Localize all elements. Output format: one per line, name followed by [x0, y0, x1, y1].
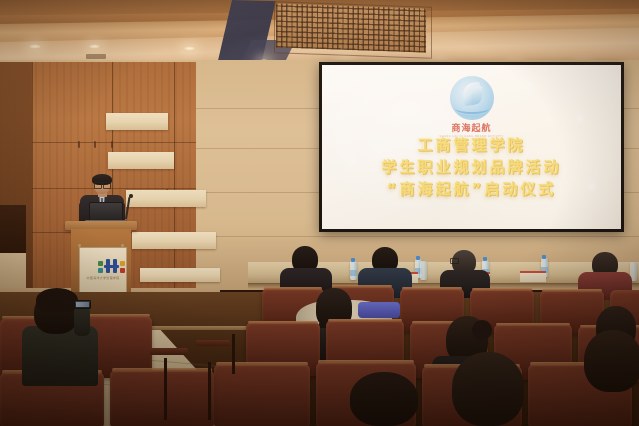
photographer-hair [36, 288, 78, 312]
audience-head-foreground-c [584, 330, 639, 392]
wall-hook-2 [94, 141, 96, 148]
logo-square-red [120, 268, 125, 273]
theater-seat[interactable] [110, 370, 214, 426]
slide-title-block: 工商管理学院 学生职业规划品牌活动 “商海起航”启动仪式 [322, 135, 621, 200]
seat-leg [232, 334, 235, 374]
seat-top-rim [402, 287, 462, 290]
seat-top-rim [80, 314, 150, 317]
eyeglasses-icon-bridge [94, 182, 110, 187]
seat-top-rim [248, 321, 318, 324]
seat-top-rim [318, 360, 414, 364]
water-bottle-5 [420, 261, 427, 280]
photographer-raised-arm [74, 306, 90, 336]
lecture-hall-photo: 商海起航 SHANG HAI QI HANG BRAND ACTIVITY 工商… [0, 0, 639, 426]
acoustic-strip-1 [106, 113, 168, 130]
presenter-laptop-screen [89, 202, 123, 221]
logo-bar-cross [104, 265, 119, 268]
slide-title-line-1: 工商管理学院 [322, 135, 621, 157]
seat-top-rim [542, 289, 602, 292]
seat-leg [208, 362, 211, 420]
slide-logo: 商海起航 SHANG HAI QI HANG BRAND ACTIVITY [322, 76, 621, 138]
slide-title-line-3: “商海起航”启动仪式 [322, 179, 621, 201]
logo-square-yellow [120, 261, 125, 266]
name-card-3 [520, 271, 546, 282]
slide-title-line-2: 学生职业规划品牌活动 [322, 157, 621, 179]
water-bottle-cap-2 [416, 256, 420, 260]
podium-body: 中国海洋大学管理学院 [71, 229, 131, 301]
acoustic-strip-2 [108, 152, 174, 169]
podium-plaque: 中国海洋大学管理学院 [79, 247, 127, 293]
downlight-3 [183, 46, 196, 51]
seat-top-rim [264, 287, 322, 290]
wood-seam-vertical-3 [174, 62, 175, 294]
blue-folded-item [358, 302, 400, 318]
seat-top-rim [216, 362, 308, 366]
theater-seat[interactable] [214, 364, 310, 426]
hair-bun-row2-a [472, 320, 492, 340]
audience-head-foreground-a [452, 352, 524, 426]
h-shaped-institution-logo-icon [96, 259, 126, 273]
logo-square-teal [98, 268, 103, 273]
seat-top-rim [328, 319, 402, 322]
water-bottle-label-1 [350, 270, 357, 276]
audience-eyeglasses-icon [450, 258, 459, 264]
wood-seam-horizontal-1 [32, 142, 196, 143]
sail-boat-emblem-icon [450, 76, 494, 120]
smartphone-screen [76, 302, 89, 307]
acoustic-strip-3 [126, 190, 206, 207]
seat-top-rim [496, 323, 570, 326]
wall-hook-1 [78, 141, 80, 148]
wood-seam-vertical-1 [32, 62, 33, 294]
podium: 中国海洋大学管理学院 [69, 221, 133, 301]
microphone-head-icon [129, 194, 133, 198]
acoustic-strip-5 [140, 268, 220, 282]
wall-recess-dark [0, 205, 26, 253]
wall-hook-3 [111, 141, 113, 148]
projection-screen: 商海起航 SHANG HAI QI HANG BRAND ACTIVITY 工商… [322, 65, 621, 229]
seat-armrest [196, 340, 230, 346]
audience-head-foreground-b [350, 372, 418, 426]
water-bottle-cap-3 [483, 257, 487, 261]
logo-square-green [98, 261, 103, 266]
grille-frame [274, 1, 432, 59]
seat-leg [164, 358, 167, 420]
downlight-1 [28, 44, 42, 49]
ceiling-speaker-box [86, 54, 106, 59]
seat-top-rim [332, 285, 392, 288]
water-bottle-cap-4 [542, 255, 546, 259]
seat-top-rim [472, 288, 532, 291]
water-bottle-cap-1 [351, 258, 355, 262]
projection-screen-frame: 商海起航 SHANG HAI QI HANG BRAND ACTIVITY 工商… [319, 62, 624, 232]
wave-line-2 [458, 107, 486, 117]
logo-chinese-text: 商海起航 [322, 121, 621, 134]
acoustic-strip-4 [132, 232, 216, 249]
seat-top-rim [112, 368, 212, 372]
podium-plaque-text: 中国海洋大学管理学院 [84, 276, 122, 281]
seat-armrest [150, 348, 188, 355]
downlight-2 [88, 44, 101, 49]
